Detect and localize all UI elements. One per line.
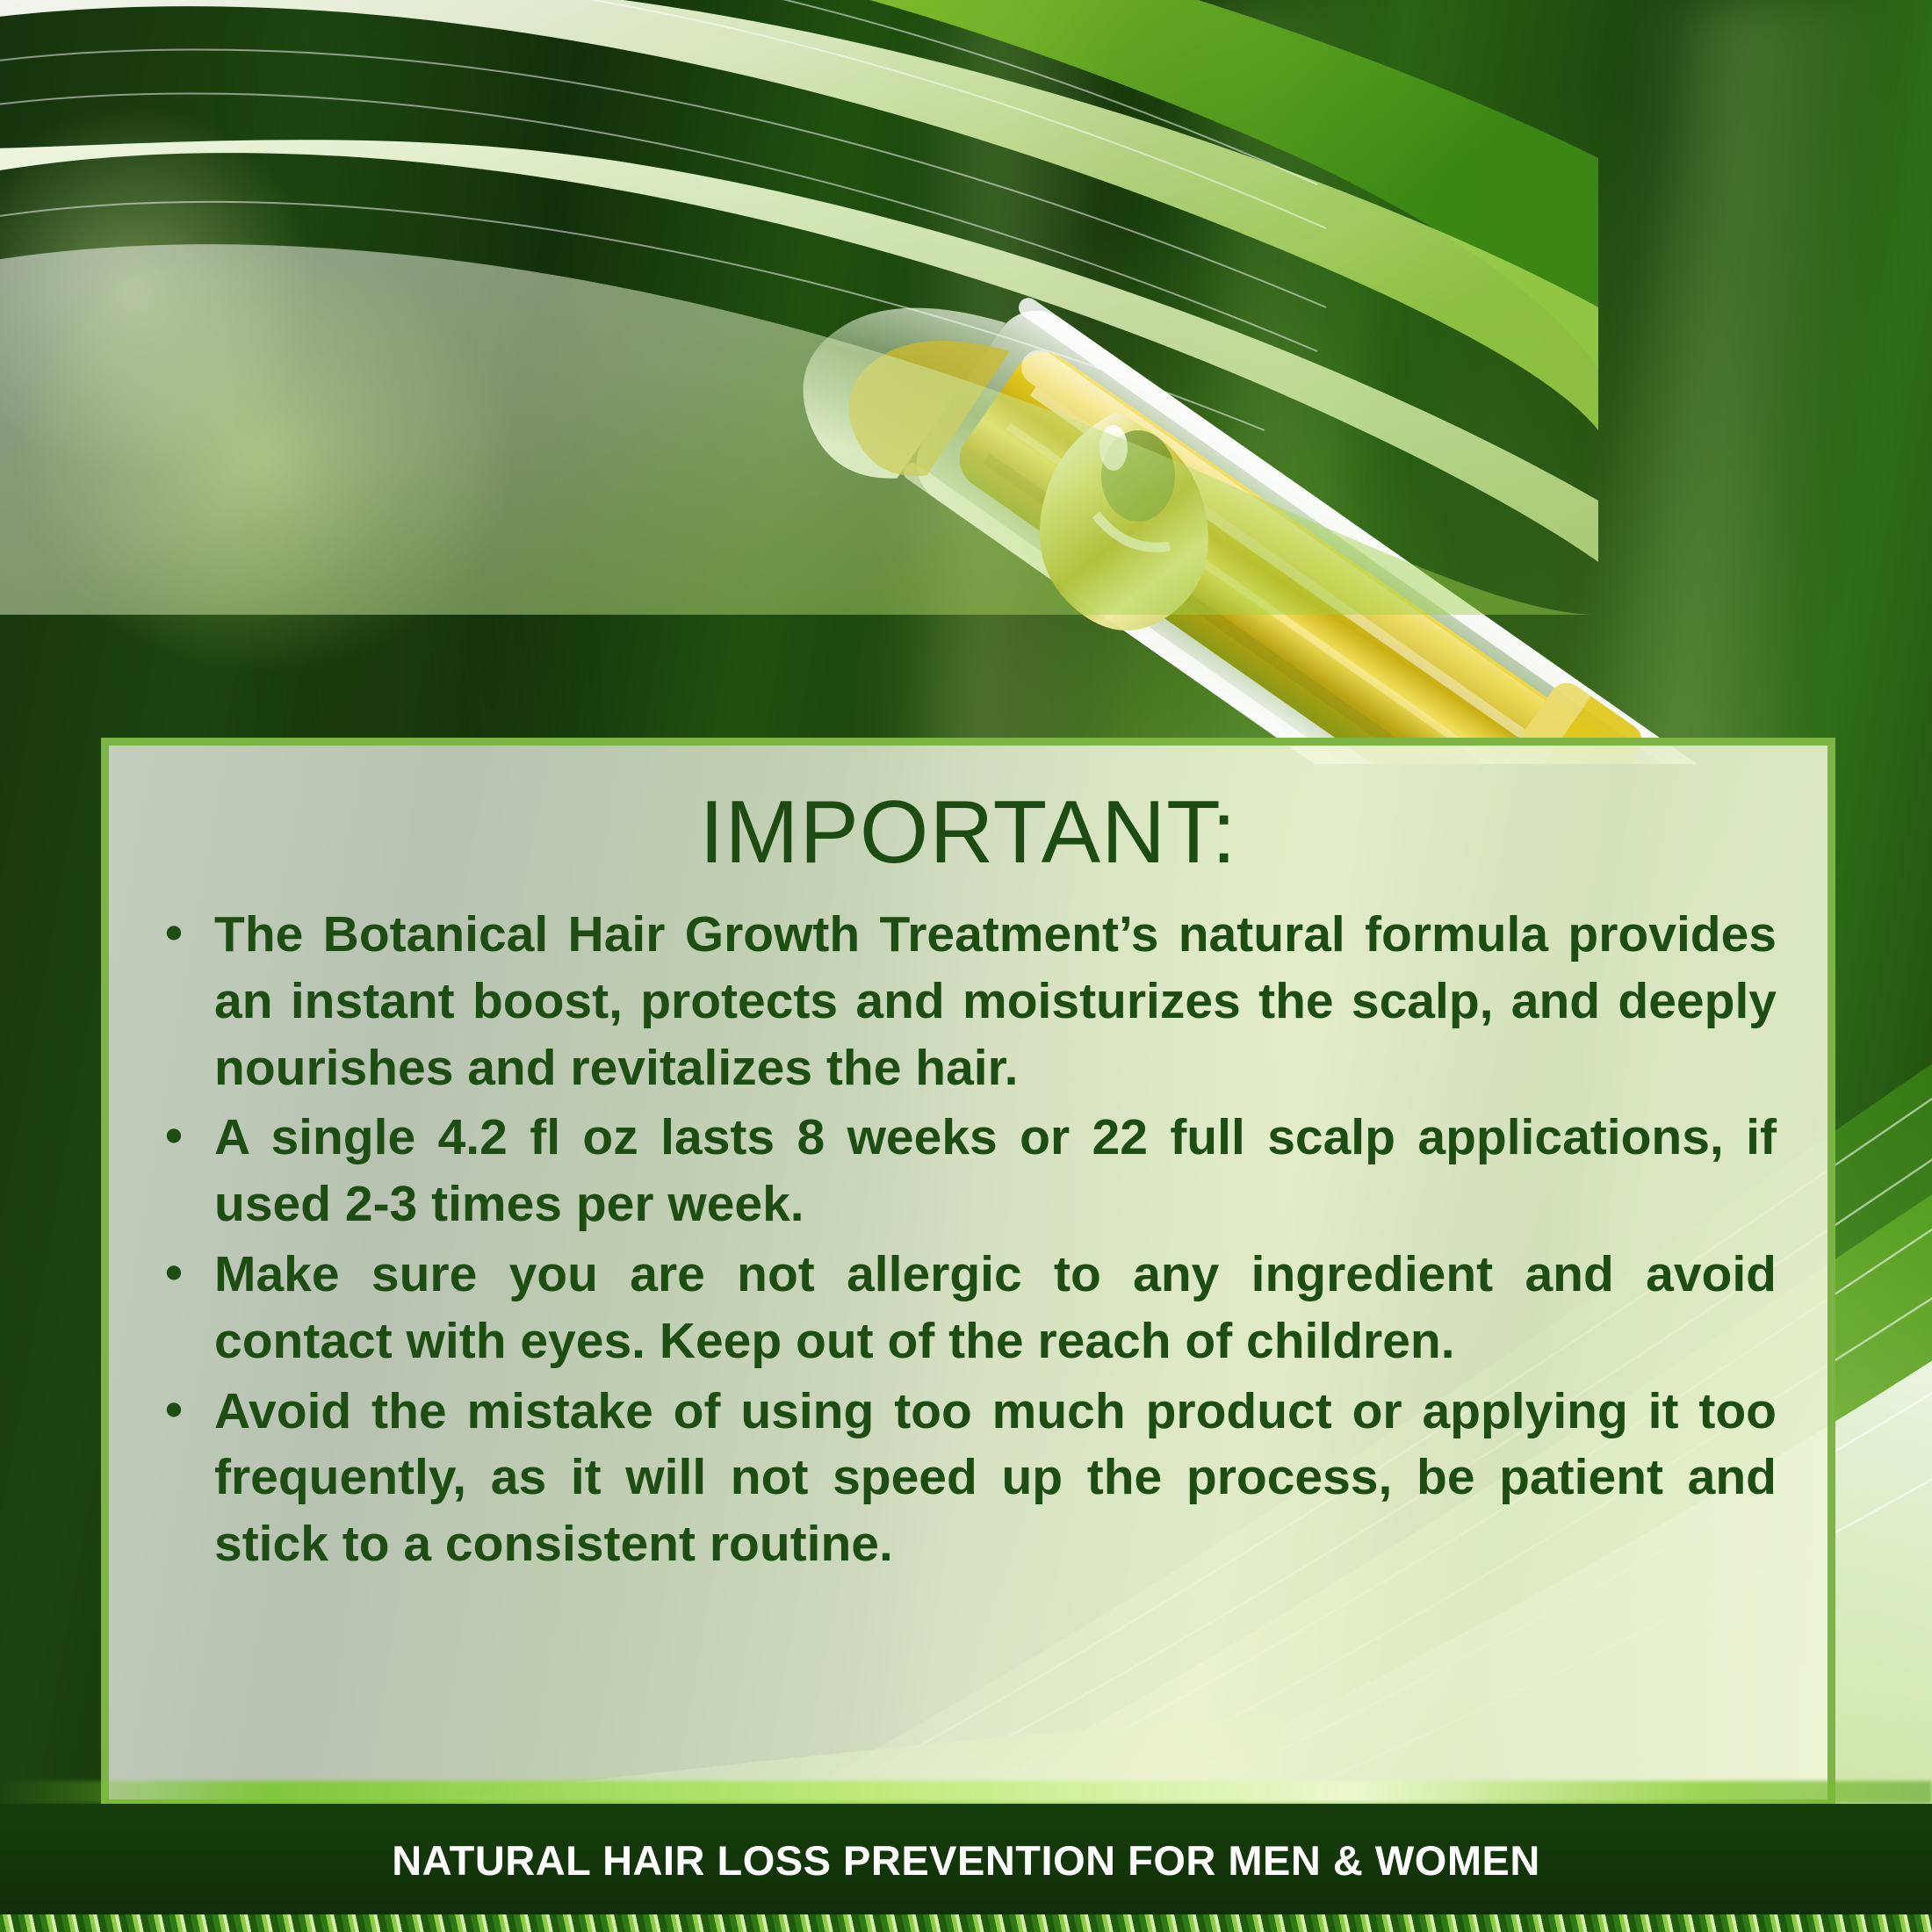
important-notes-list: • The Botanical Hair Growth Treatment’s … [160,902,1777,1578]
bullet-dot-icon: • [165,900,183,967]
list-item-text: Avoid the mistake of using too much prod… [214,1383,1777,1573]
footer-banner: NATURAL HAIR LOSS PREVENTION FOR MEN & W… [0,1804,1932,1916]
bottom-stripe-decoration [0,1914,1932,1932]
bullet-dot-icon: • [165,1103,183,1170]
list-item-text: Make sure you are not allergic to any in… [214,1246,1777,1369]
oil-dropper-image [544,0,1932,764]
list-item-text: A single 4.2 fl oz lasts 8 weeks or 22 f… [214,1109,1777,1232]
bullet-dot-icon: • [165,1377,183,1444]
bullet-dot-icon: • [165,1240,183,1307]
list-item: • Make sure you are not allergic to any … [160,1242,1777,1375]
footer-tagline: NATURAL HAIR LOSS PREVENTION FOR MEN & W… [392,1836,1540,1885]
list-item: • The Botanical Hair Growth Treatment’s … [160,902,1777,1101]
list-item: • Avoid the mistake of using too much pr… [160,1379,1777,1578]
list-item-text: The Botanical Hair Growth Treatment’s na… [214,906,1777,1096]
content-panel: IMPORTANT: • The Botanical Hair Growth T… [101,738,1835,1807]
footer-accent-stripe [0,1781,1932,1804]
list-item: • A single 4.2 fl oz lasts 8 weeks or 22… [160,1105,1777,1238]
poster-canvas: IMPORTANT: • The Botanical Hair Growth T… [0,0,1932,1932]
panel-title: IMPORTANT: [160,786,1777,879]
